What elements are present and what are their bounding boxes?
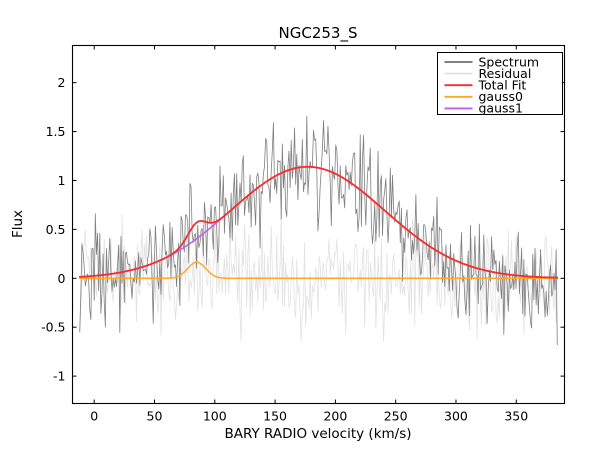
x-tick-label: 100 — [203, 409, 227, 424]
legend-label: gauss1 — [479, 101, 524, 116]
x-tick-label: 0 — [90, 409, 98, 424]
x-tick-label: 50 — [147, 409, 163, 424]
y-tick-label: 1 — [58, 173, 66, 188]
y-tick-label: 1.5 — [46, 124, 66, 139]
x-tick-label: 350 — [504, 409, 528, 424]
x-tick-label: 200 — [323, 409, 347, 424]
x-tick-label: 300 — [444, 409, 468, 424]
y-tick-label: 0 — [58, 271, 66, 286]
y-tick-label: -1 — [53, 369, 65, 384]
y-axis-label: Flux — [10, 210, 26, 238]
y-tick-label: 2 — [58, 75, 66, 90]
legend: SpectrumResidualTotal Fitgauss0gauss1 — [438, 53, 563, 116]
x-axis-label: BARY RADIO velocity (km/s) — [224, 426, 411, 442]
x-tick-label: 250 — [384, 409, 408, 424]
y-tick-label: 0.5 — [46, 222, 66, 237]
y-tick-label: -0.5 — [41, 320, 65, 335]
page-title: NGC253_S — [279, 24, 358, 43]
x-tick-label: 150 — [263, 409, 287, 424]
spectrum-plot: NGC253_S 050100150200250300350 -1-0.500.… — [0, 0, 609, 459]
figure-canvas: NGC253_S 050100150200250300350 -1-0.500.… — [0, 0, 609, 459]
